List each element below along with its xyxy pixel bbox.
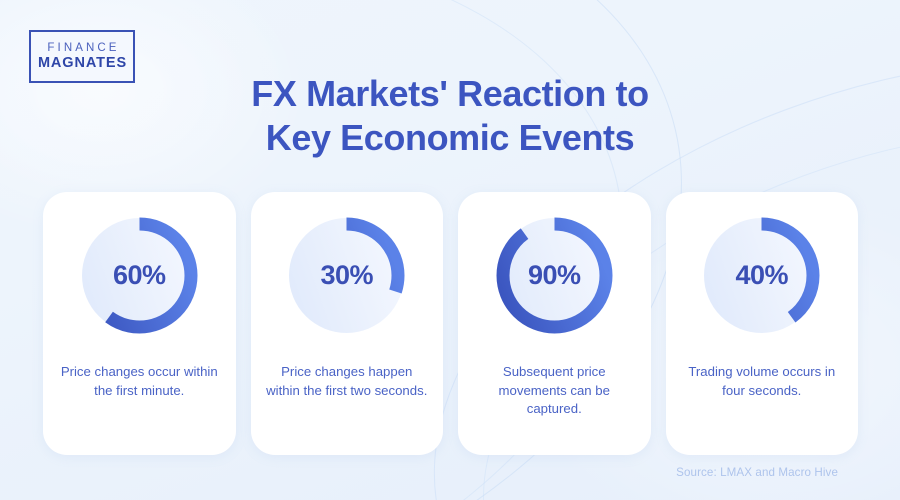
donut-percent-label: 90% [489,210,620,341]
stat-card: 40%Trading volume occurs in four seconds… [666,192,859,455]
donut-gauge: 40% [696,210,827,341]
donut-percent-label: 30% [281,210,412,341]
page-title: FX Markets' Reaction to Key Economic Eve… [0,72,900,160]
donut-percent-label: 60% [74,210,205,341]
logo-text-magnates: MAGNATES [37,55,127,72]
source-attribution: Source: LMAX and Macro Hive [676,466,838,479]
logo-text-finance: FINANCE [44,41,119,55]
stat-card-caption: Subsequent price movements can be captur… [473,363,635,419]
donut-gauge: 30% [281,210,412,341]
page-title-line-2: Key Economic Events [0,116,900,160]
page-title-line-1: FX Markets' Reaction to [0,72,900,116]
stat-card-caption: Price changes occur within the first min… [58,363,220,400]
stat-card: 90%Subsequent price movements can be cap… [458,192,651,455]
stat-card: 30%Price changes happen within the first… [251,192,444,455]
stat-card-caption: Trading volume occurs in four seconds. [681,363,843,400]
stat-card-caption: Price changes happen within the first tw… [266,363,428,400]
infographic-canvas: FINANCE MAGNATES FX Markets' Reaction to… [0,0,900,500]
donut-gauge: 60% [74,210,205,341]
donut-percent-label: 40% [696,210,827,341]
stat-card: 60%Price changes occur within the first … [43,192,236,455]
stat-card-grid: 60%Price changes occur within the first … [43,192,858,455]
donut-gauge: 90% [489,210,620,341]
